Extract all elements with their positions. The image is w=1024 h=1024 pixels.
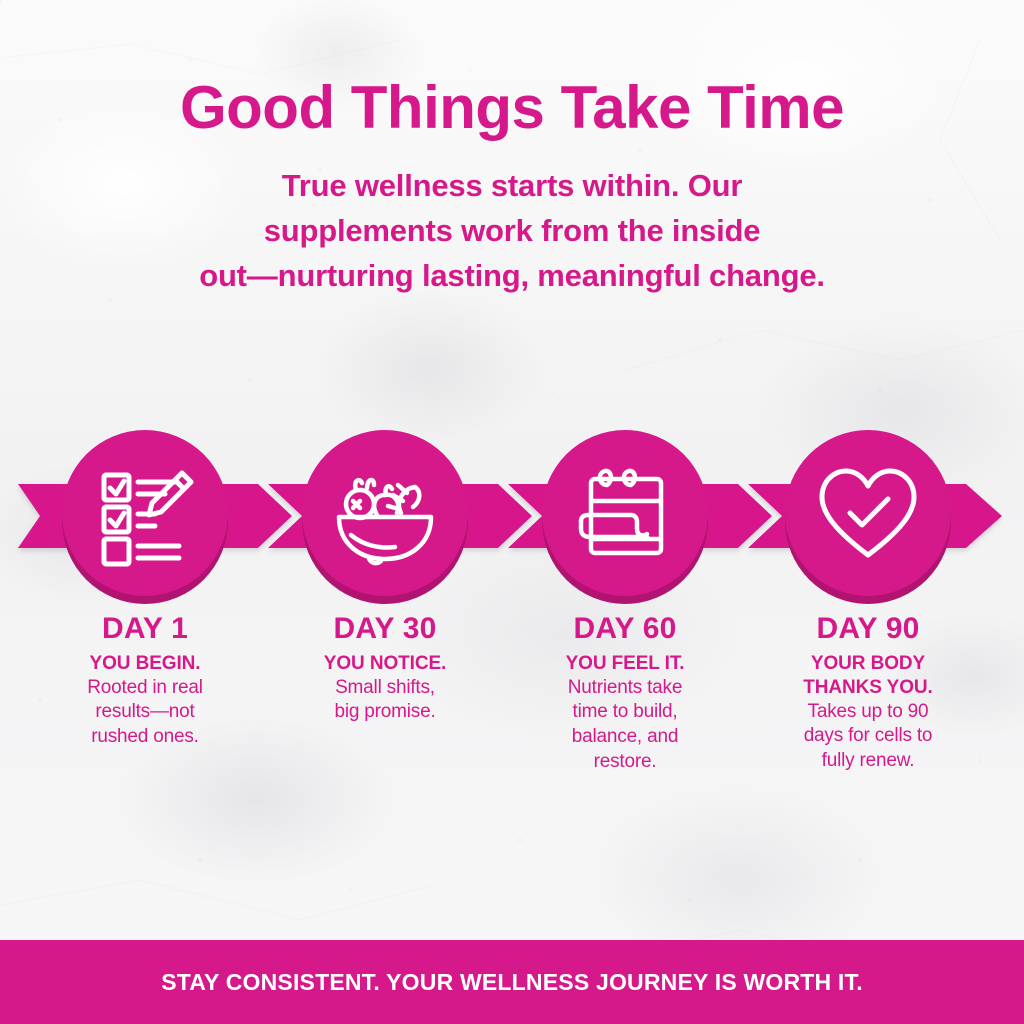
step-3-day-label: DAY 60 — [509, 612, 741, 645]
step-4-lead-line-1: YOUR BODY — [752, 652, 984, 676]
step-4-day-label: DAY 90 — [752, 612, 984, 645]
step-4-lead-line-2: THANKS YOU. — [752, 676, 984, 700]
timeline-step-4[interactable] — [782, 424, 954, 602]
timeline-steps — [0, 424, 1024, 604]
footer-tagline: STAY CONSISTENT. YOUR WELLNESS JOURNEY I… — [161, 969, 863, 996]
badge-circle-2 — [302, 430, 468, 596]
badge-circle-4 — [785, 430, 951, 596]
step-3-lead-text: YOU FEEL IT. — [509, 652, 741, 676]
timeline-step-3[interactable] — [539, 424, 711, 602]
footer-banner: STAY CONSISTENT. YOUR WELLNESS JOURNEY I… — [0, 940, 1024, 1024]
poster-header: Good Things Take Time True wellness star… — [0, 0, 1024, 299]
caption-column-2: DAY 30 YOU NOTICE. Small shifts, big pro… — [269, 612, 501, 725]
step-2-day-label: DAY 30 — [269, 612, 501, 645]
step-3-body-line-1: Nutrients take — [509, 676, 741, 701]
salad-bowl-icon — [329, 457, 441, 569]
subheadline-line-1: True wellness starts within. Our — [82, 164, 942, 209]
step-1-lead-text: YOU BEGIN. — [29, 652, 261, 676]
step-2-lead-text: YOU NOTICE. — [269, 652, 501, 676]
step-3-body-line-3: balance, and — [509, 725, 741, 750]
badge-circle-1 — [62, 430, 228, 596]
step-3-body-line-2: time to build, — [509, 700, 741, 725]
step-2-body-line-1: Small shifts, — [269, 676, 501, 701]
caption-column-4: DAY 90 YOUR BODY THANKS YOU. Takes up to… — [752, 612, 984, 774]
caption-column-3: DAY 60 YOU FEEL IT. Nutrients take time … — [509, 612, 741, 775]
step-4-body-line-2: days for cells to — [752, 724, 984, 749]
caption-column-1: DAY 1 YOU BEGIN. Rooted in real results—… — [29, 612, 261, 750]
page-title: Good Things Take Time — [0, 78, 1024, 138]
subheadline-line-2: supplements work from the inside — [82, 209, 942, 254]
timeline-step-1[interactable] — [59, 424, 231, 602]
timeline-step-2[interactable] — [299, 424, 471, 602]
step-2-body-line-2: big promise. — [269, 700, 501, 725]
heart-check-icon — [812, 457, 924, 569]
calendar-icon — [569, 457, 681, 569]
subheadline: True wellness starts within. Our supplem… — [82, 164, 942, 299]
checklist-pencil-icon — [89, 457, 201, 569]
step-1-body-line-1: Rooted in real — [29, 676, 261, 701]
step-3-body-line-4: restore. — [509, 750, 741, 775]
timeline-captions: DAY 1 YOU BEGIN. Rooted in real results—… — [0, 612, 1024, 852]
step-4-body-line-3: fully renew. — [752, 749, 984, 774]
step-1-day-label: DAY 1 — [29, 612, 261, 645]
poster-canvas: Good Things Take Time True wellness star… — [0, 0, 1024, 1024]
subheadline-line-3: out—nurturing lasting, meaningful change… — [82, 254, 942, 299]
badge-circle-3 — [542, 430, 708, 596]
step-1-body-line-3: rushed ones. — [29, 725, 261, 750]
step-1-body-line-2: results—not — [29, 700, 261, 725]
step-4-body-line-1: Takes up to 90 — [752, 700, 984, 725]
